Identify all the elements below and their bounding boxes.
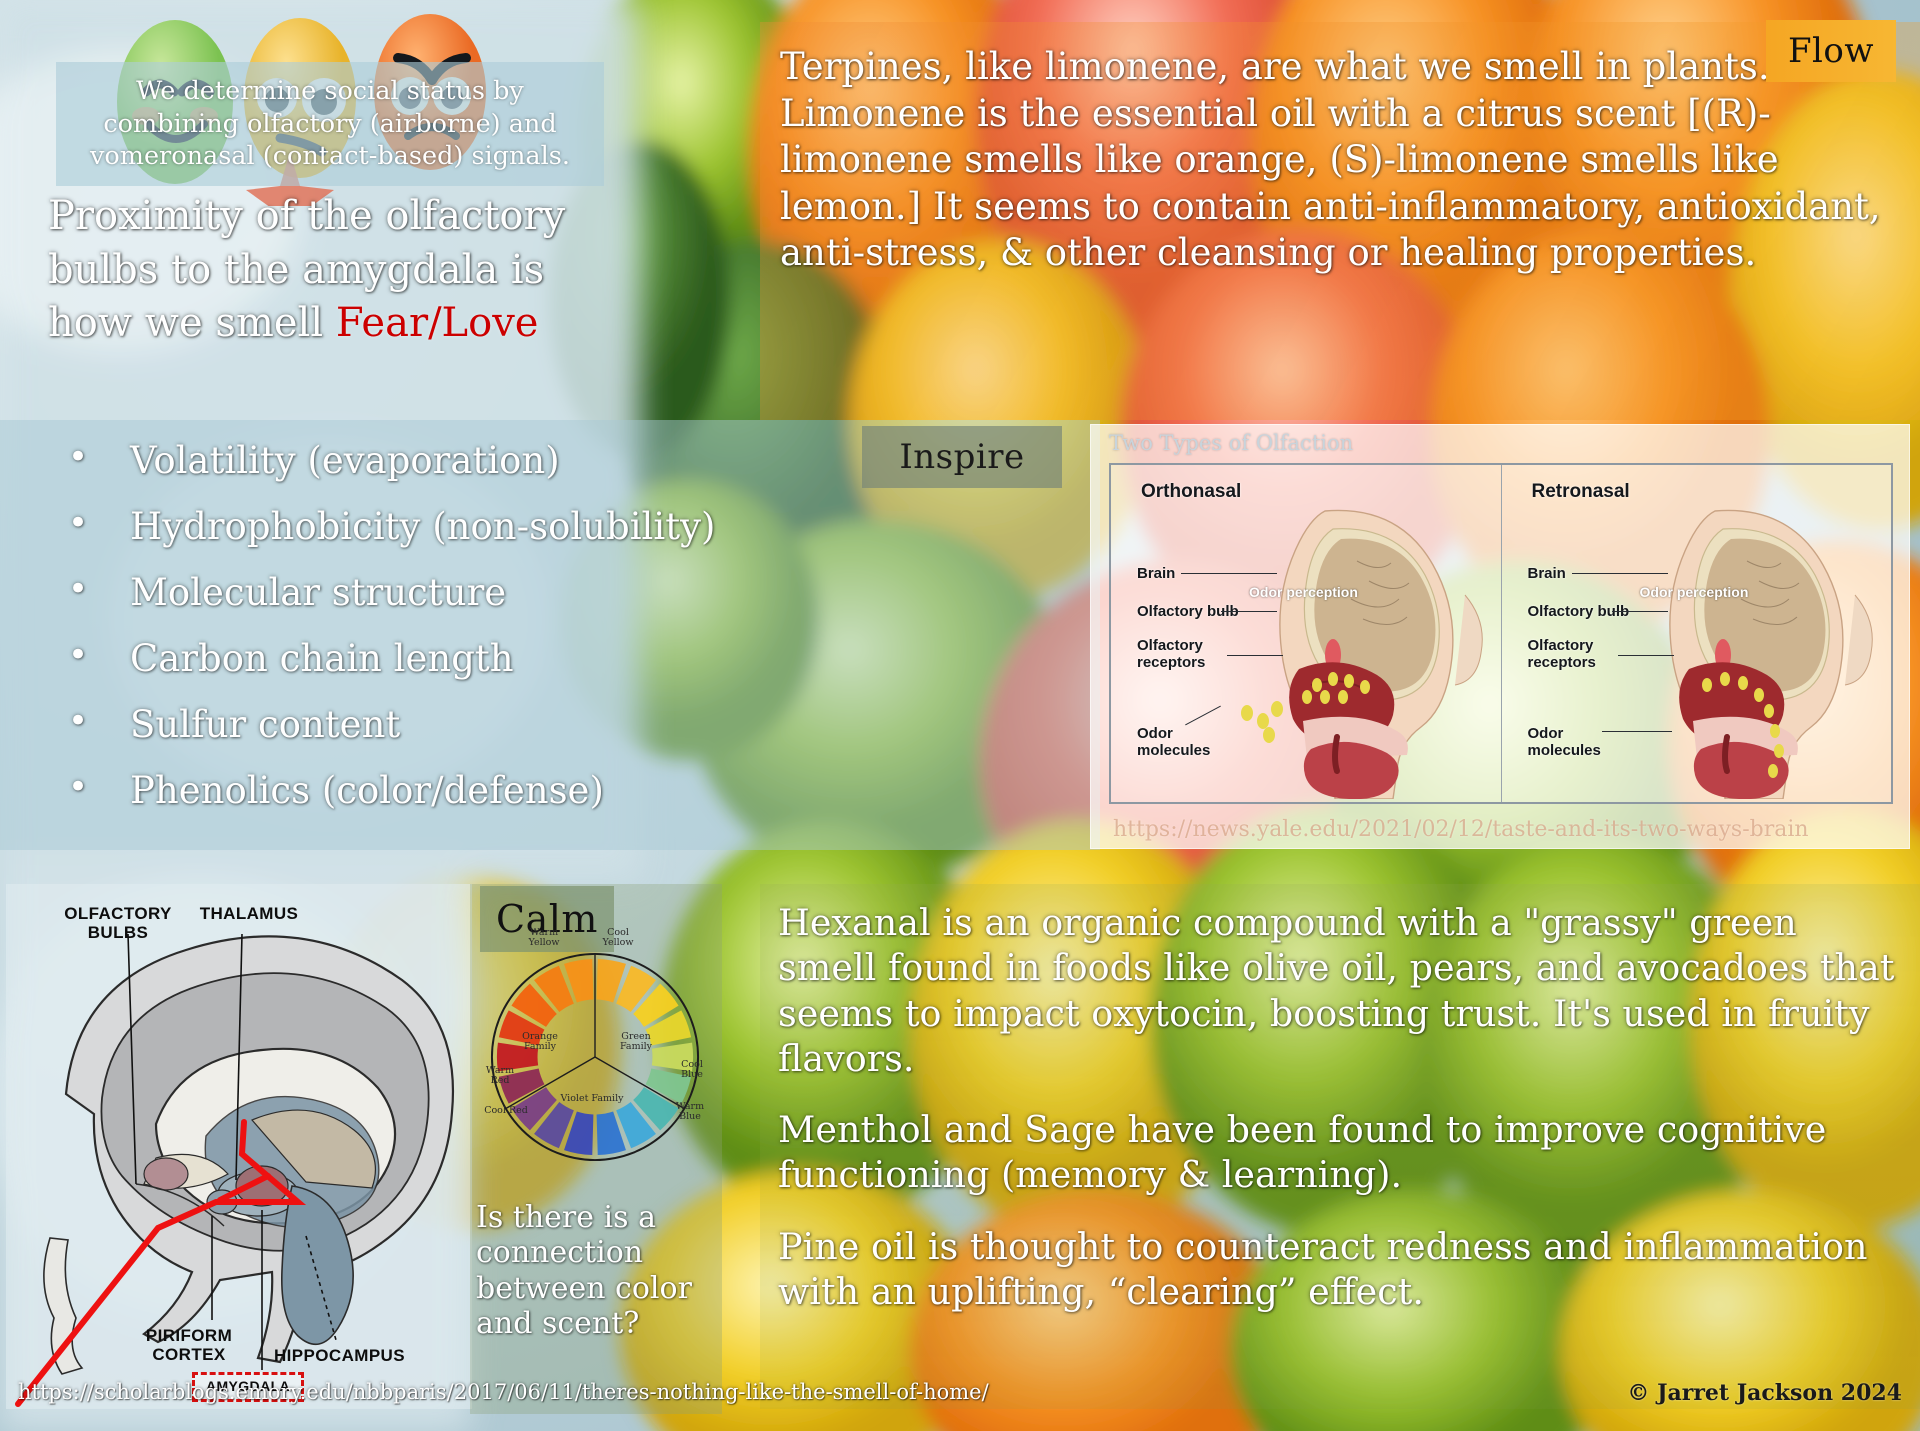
- label-thalamus: THALAMUS: [194, 904, 304, 923]
- retronasal-head-illustration: [1597, 499, 1887, 799]
- odor-perception-label: Odor perception: [1640, 585, 1749, 600]
- label-brain: Brain: [1528, 565, 1566, 582]
- label-brain: Brain: [1137, 565, 1175, 582]
- orthonasal-panel: Orthonasal: [1111, 465, 1501, 802]
- label-olfactory-receptors: Olfactory receptors: [1528, 637, 1614, 672]
- terpines-panel: Terpines, like limonene, are what we sme…: [760, 22, 1920, 420]
- odor-molecule-dots: [1241, 701, 1283, 743]
- badge-flow: Flow: [1766, 20, 1896, 82]
- wheel-label-cool-blue: Cool Blue: [670, 1060, 714, 1081]
- proximity-statement: Proximity of the olfactory bulbs to the …: [48, 190, 618, 351]
- wheel-label-warm-blue: Warm Blue: [666, 1102, 714, 1123]
- compounds-panel: Hexanal is an organic compound with a "g…: [760, 884, 1920, 1409]
- color-scent-question: Is there is a connection between color a…: [476, 1200, 726, 1342]
- wheel-family-green: Green Family: [606, 1032, 666, 1053]
- label-olfactory-receptors: Olfactory receptors: [1137, 637, 1223, 672]
- figure-source-url[interactable]: https://news.yale.edu/2021/02/12/taste-a…: [1113, 817, 1809, 842]
- social-status-text: We determine social status by combining …: [66, 75, 594, 173]
- label-odor-molecules: Odor molecules: [1528, 725, 1608, 760]
- list-item: Phenolics (color/defense): [130, 772, 1100, 809]
- wheel-label-warm-yellow: Warm Yellow: [518, 928, 570, 949]
- list-item: Hydrophobicity (non-solubility): [130, 508, 1100, 545]
- wheel-label-cool-red: Cool Red: [484, 1106, 528, 1116]
- figure-frame: Orthonasal: [1109, 463, 1893, 804]
- color-wheel-figure: Orange Family Green Family Violet Family…: [476, 884, 714, 1214]
- wheel-label-cool-yellow: Cool Yellow: [592, 928, 644, 949]
- wheel-label-warm-red: Warm Red: [476, 1066, 524, 1087]
- odor-perception-label: Odor perception: [1249, 585, 1358, 600]
- label-olfactory-bulbs: OLFACTORY BULBS: [58, 904, 178, 943]
- brain-limbic-diagram: OLFACTORY BULBS THALAMUS PIRIFORM CORTEX…: [6, 884, 472, 1409]
- orthonasal-head-illustration: [1207, 499, 1497, 799]
- list-item: Sulfur content: [130, 706, 1100, 743]
- retronasal-panel: Retronasal: [1501, 465, 1892, 802]
- fear-love-highlight: Fear/Love: [336, 300, 539, 346]
- two-types-of-olfaction-figure: Two Types of Olfaction Orthonasal: [1090, 424, 1910, 849]
- list-item: Molecular structure: [130, 574, 1100, 611]
- paragraph-pine-oil: Pine oil is thought to counteract rednes…: [760, 1224, 1920, 1315]
- list-item: Carbon chain length: [130, 640, 1100, 677]
- label-odor-molecules: Odor molecules: [1137, 725, 1217, 760]
- label-piriform-cortex: PIRIFORM CORTEX: [134, 1326, 244, 1365]
- infographic-canvas: We determine social status by combining …: [0, 0, 1920, 1431]
- label-hippocampus: HIPPOCAMPUS: [274, 1346, 404, 1365]
- color-wheel-illustration: [486, 948, 704, 1166]
- copyright-credit: © Jarret Jackson 2024: [1627, 1380, 1902, 1406]
- source-url-link[interactable]: https://scholarblogs.emory.edu/nbbparis/…: [18, 1380, 989, 1404]
- terpines-text: Terpines, like limonene, are what we sme…: [760, 22, 1920, 277]
- paragraph-menthol-sage: Menthol and Sage have been found to impr…: [760, 1107, 1920, 1198]
- badge-inspire: Inspire: [862, 426, 1062, 488]
- wheel-family-violet: Violet Family: [550, 1094, 634, 1104]
- figure-caption: Two Types of Olfaction: [1109, 431, 1353, 455]
- paragraph-hexanal: Hexanal is an organic compound with a "g…: [760, 884, 1920, 1081]
- social-status-note: We determine social status by combining …: [56, 62, 604, 186]
- wheel-family-orange: Orange Family: [510, 1032, 570, 1053]
